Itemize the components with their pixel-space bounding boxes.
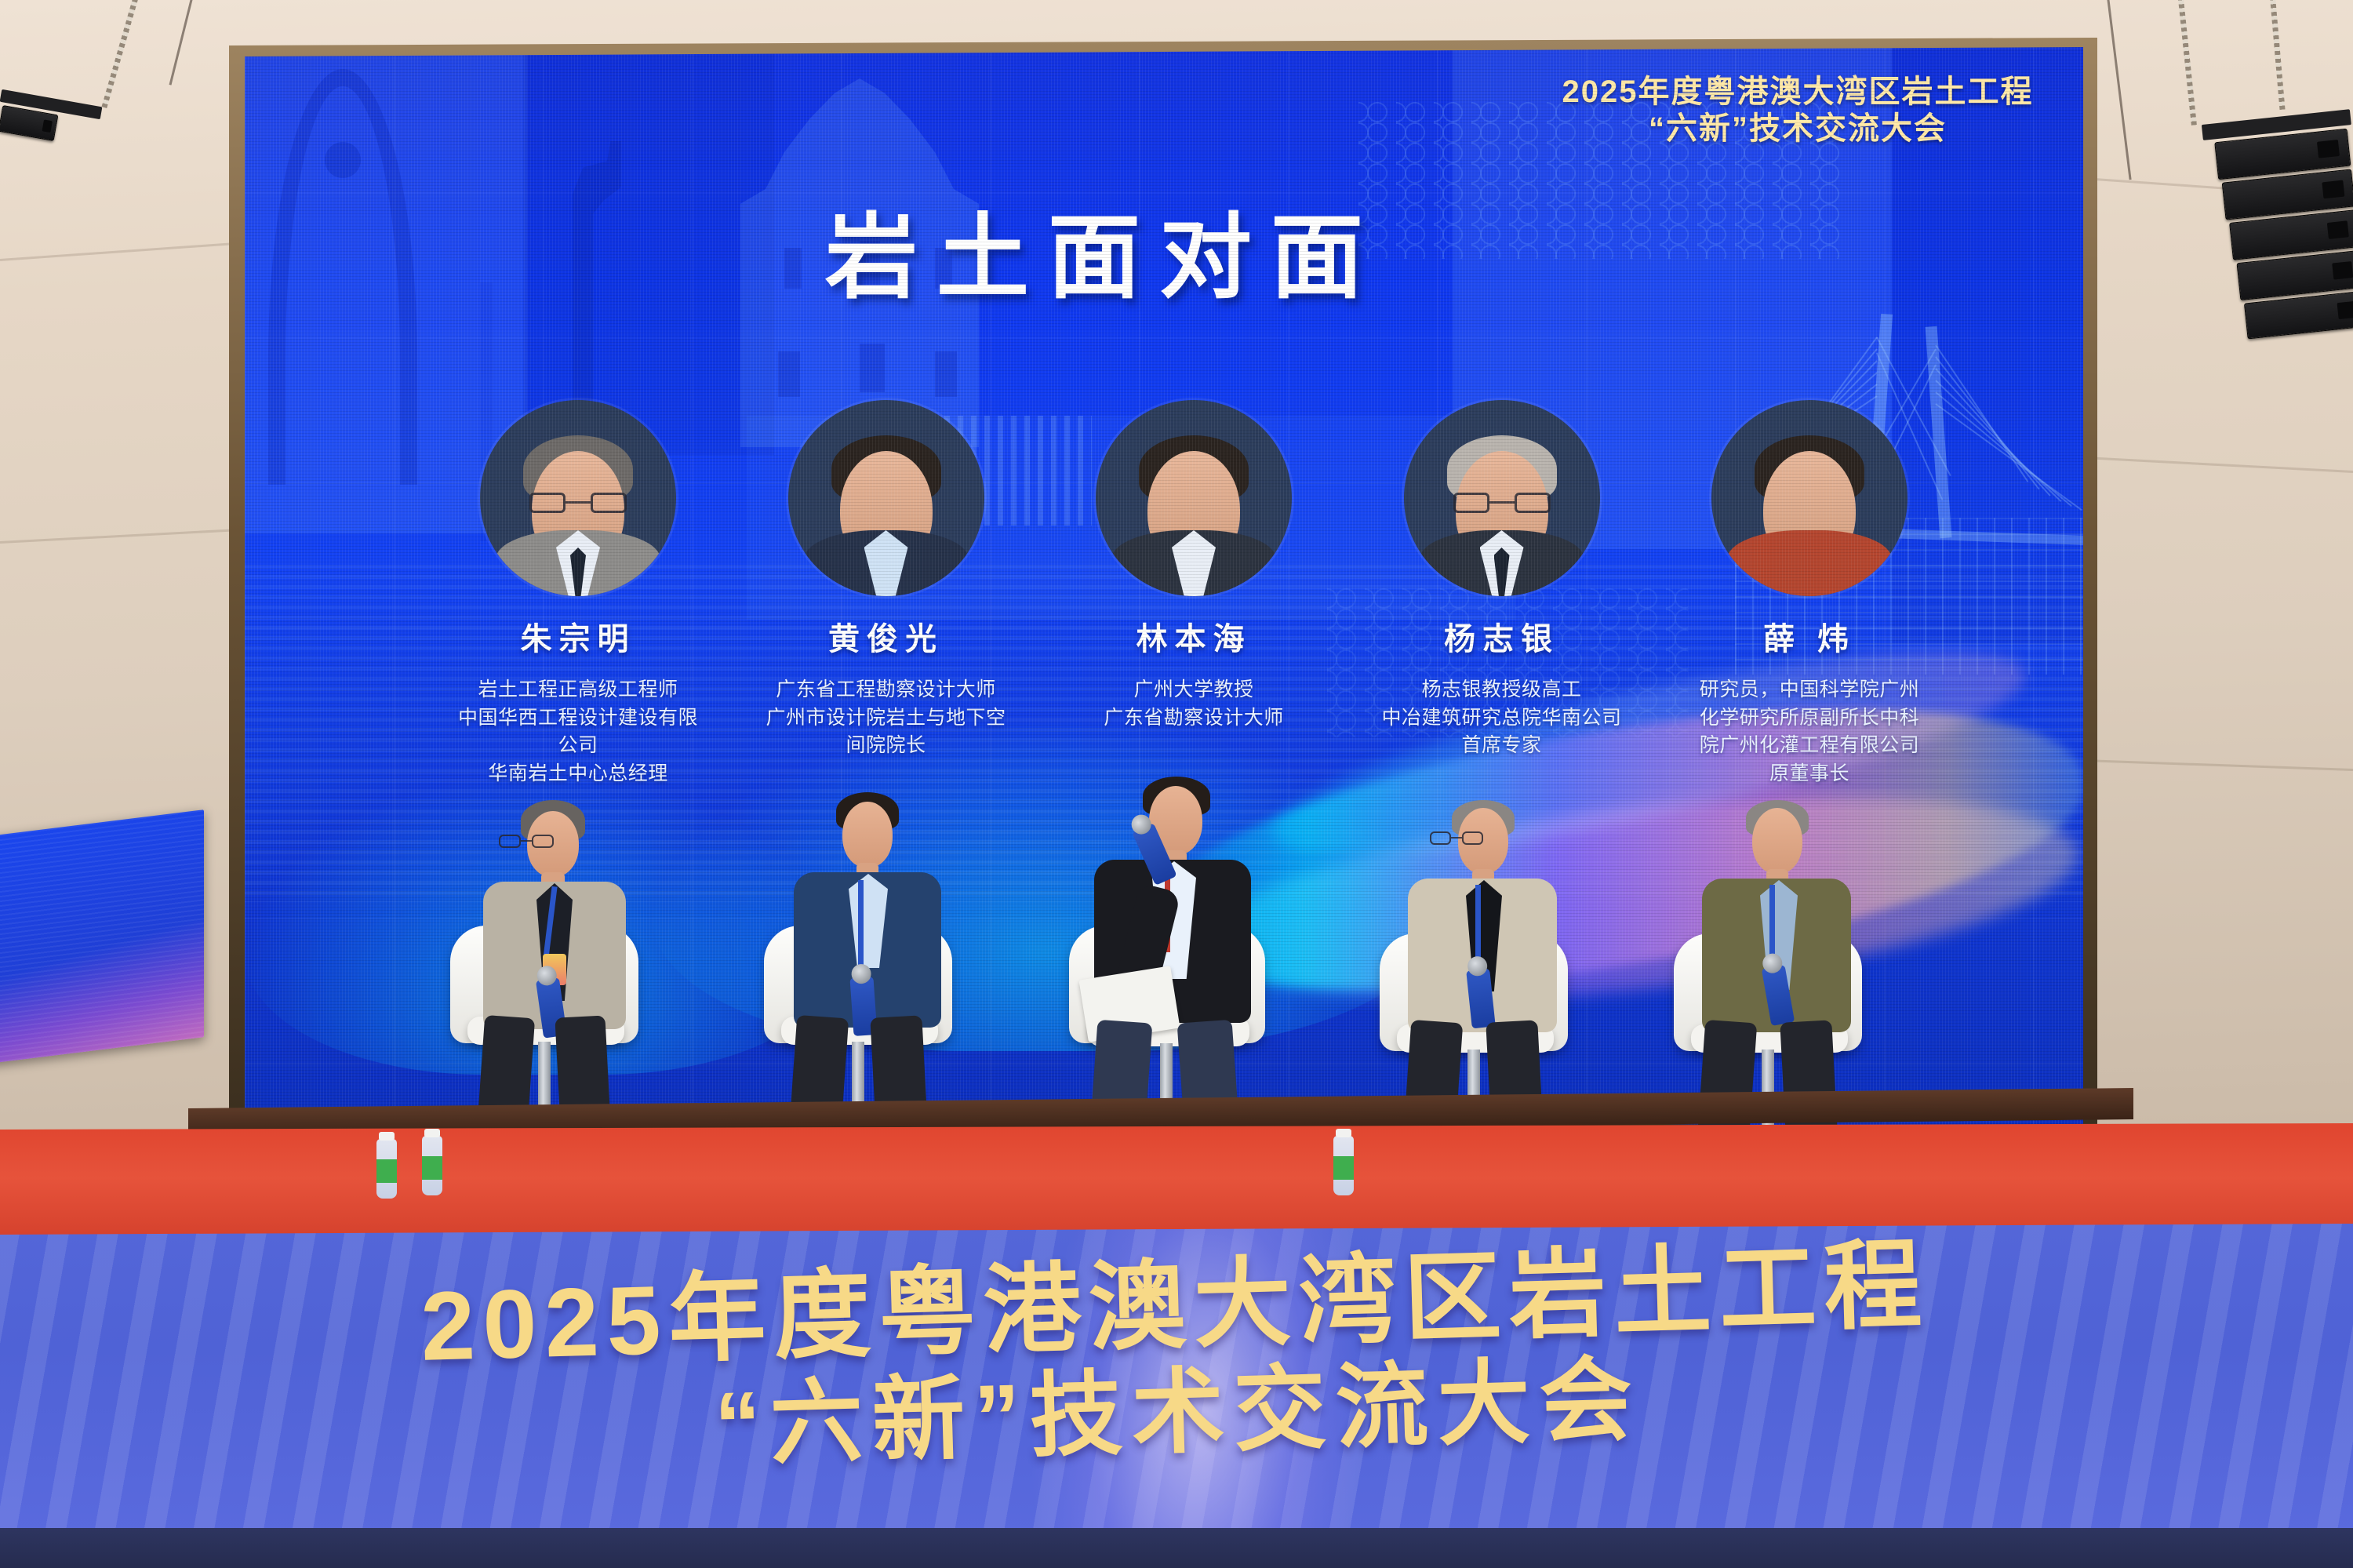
led-header-line1: 2025年度粤港澳大湾区岩土工程 bbox=[1445, 74, 2083, 111]
led-header-line2: “六新”技术交流大会 bbox=[1445, 111, 2083, 147]
conference-scene: 2025年度粤港澳大湾区岩土工程 “六新”技术交流大会 岩土面对面 朱宗明 岩土… bbox=[0, 0, 2353, 1568]
panelist-bio: 研究员，中国科学院广州 化学研究所原副所长中科 院广州化灌工程有限公司 原董事长 bbox=[1680, 676, 1939, 788]
panelist-portrait bbox=[788, 400, 984, 596]
panelist-portrait bbox=[480, 400, 676, 596]
led-main-title: 岩土面对面 bbox=[825, 182, 1382, 316]
panelist-name: 杨志银 bbox=[1373, 613, 1631, 659]
panelist-bio: 广东省工程勘察设计大师 广州市设计院岩土与地下空 间院院长 bbox=[757, 676, 1016, 760]
panelist-card: 杨志银 杨志银教授级高工 中冶建筑研究总院华南公司 首席专家 bbox=[1373, 400, 1631, 788]
led-header-text: 2025年度粤港澳大湾区岩土工程 “六新”技术交流大会 bbox=[1445, 74, 2083, 147]
line-array-speakers bbox=[2208, 109, 2353, 358]
panelist-bio: 广州大学教授 广东省勘察设计大师 bbox=[1064, 676, 1323, 732]
panelist-card: 朱宗明 岩土工程正高级工程师 中国华西工程设计建设有限公司 华南岩土中心总经理 bbox=[449, 400, 707, 788]
panelist-card: 林本海 广州大学教授 广东省勘察设计大师 bbox=[1064, 400, 1323, 788]
head bbox=[1752, 808, 1802, 874]
panelist-portrait bbox=[1404, 400, 1600, 596]
side-led-screen bbox=[0, 809, 204, 1065]
panelist-card: 薛 炜 研究员，中国科学院广州 化学研究所原副所长中科 院广州化灌工程有限公司 … bbox=[1680, 400, 1939, 788]
stage-front-banner: 2025年度粤港澳大湾区岩土工程 “六新”技术交流大会 bbox=[0, 1224, 2353, 1537]
head bbox=[842, 802, 893, 868]
panelist-name: 朱宗明 bbox=[449, 613, 707, 659]
panelist-name: 薛 炜 bbox=[1680, 613, 1939, 659]
panelist-portrait bbox=[1096, 400, 1292, 596]
panelist-bio: 岩土工程正高级工程师 中国华西工程设计建设有限公司 华南岩土中心总经理 bbox=[449, 676, 707, 788]
water-bottle bbox=[1333, 1136, 1354, 1195]
water-bottle bbox=[376, 1139, 397, 1199]
floor-carpet bbox=[0, 1528, 2353, 1568]
water-bottle bbox=[422, 1136, 442, 1195]
panelist-bio: 杨志银教授级高工 中冶建筑研究总院华南公司 首席专家 bbox=[1373, 676, 1631, 760]
panelist-grid: 朱宗明 岩土工程正高级工程师 中国华西工程设计建设有限公司 华南岩土中心总经理 … bbox=[449, 400, 1939, 788]
panelist-name: 林本海 bbox=[1064, 613, 1323, 659]
panelist-name: 黄俊光 bbox=[757, 613, 1016, 659]
bg-block bbox=[523, 47, 774, 455]
panelist-card: 黄俊光 广东省工程勘察设计大师 广州市设计院岩土与地下空 间院院长 bbox=[757, 400, 1016, 788]
panelist-portrait bbox=[1711, 400, 1907, 596]
